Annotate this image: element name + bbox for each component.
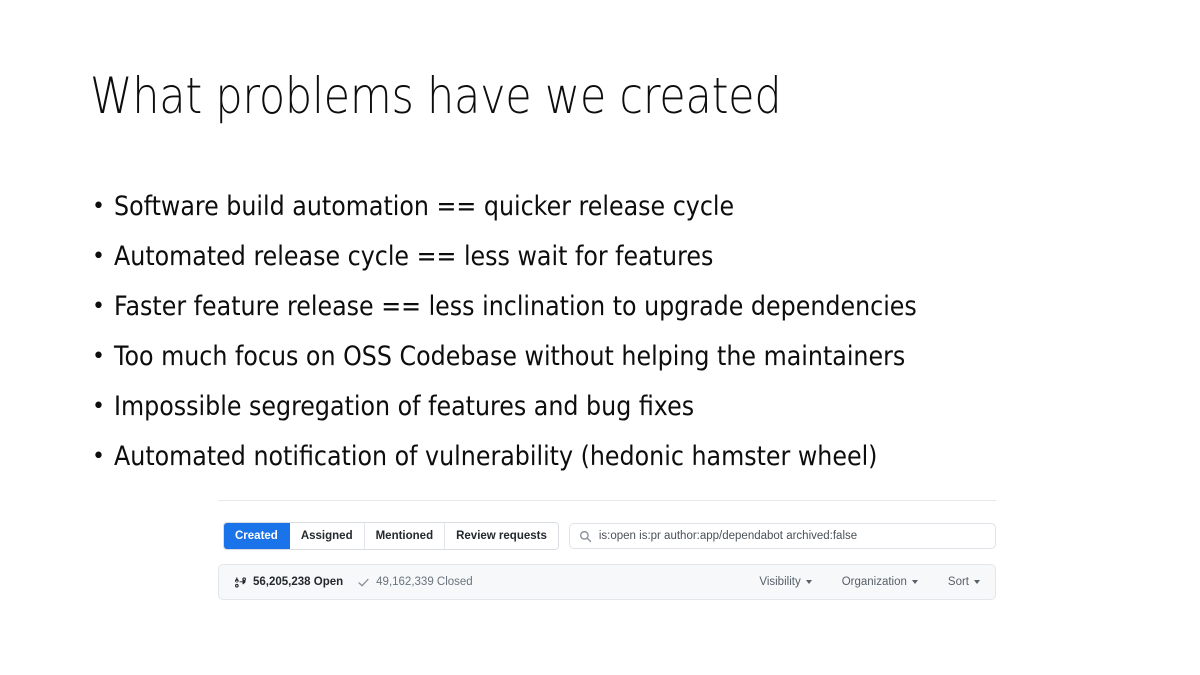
organization-dropdown[interactable]: Organization bbox=[842, 576, 918, 588]
open-count-label: 56,205,238 Open bbox=[253, 576, 343, 588]
list-item: • Automated release cycle == less wait f… bbox=[90, 232, 1150, 282]
chevron-down-icon bbox=[806, 580, 812, 584]
list-item: • Software build automation == quicker r… bbox=[90, 182, 1150, 232]
issue-counts: 56,205,238 Open 49,162,339 Closed bbox=[234, 576, 473, 589]
bullet-marker: • bbox=[92, 282, 104, 332]
list-item-label: Impossible segregation of features and b… bbox=[114, 382, 694, 432]
tab-created[interactable]: Created bbox=[224, 523, 290, 549]
github-status-bar: 56,205,238 Open 49,162,339 Closed Visibi… bbox=[218, 564, 996, 600]
list-item-label: Faster feature release == less inclinati… bbox=[114, 282, 917, 332]
organization-dropdown-label: Organization bbox=[842, 576, 907, 588]
bullet-marker: • bbox=[92, 232, 104, 282]
search-input[interactable]: is:open is:pr author:app/dependabot arch… bbox=[569, 523, 996, 549]
bullet-marker: • bbox=[92, 332, 104, 382]
tab-review-requests-label: Review requests bbox=[456, 530, 547, 542]
list-item-label: Too much focus on OSS Codebase without h… bbox=[114, 332, 905, 382]
chevron-down-icon bbox=[912, 580, 918, 584]
page-title: What problems have we created bbox=[90, 66, 967, 126]
open-count[interactable]: 56,205,238 Open bbox=[234, 576, 343, 589]
check-icon bbox=[357, 576, 370, 589]
list-item-label: Automated release cycle == less wait for… bbox=[114, 232, 713, 282]
list-item-label: Software build automation == quicker rel… bbox=[114, 182, 734, 232]
bullet-marker: • bbox=[92, 182, 104, 232]
tab-review-requests[interactable]: Review requests bbox=[445, 523, 558, 549]
closed-count-label: 49,162,339 Closed bbox=[376, 576, 473, 588]
sort-dropdown[interactable]: Sort bbox=[948, 576, 980, 588]
tab-mentioned-label: Mentioned bbox=[376, 530, 434, 542]
visibility-dropdown[interactable]: Visibility bbox=[759, 576, 811, 588]
github-tab-group: Created Assigned Mentioned Review reques… bbox=[223, 522, 559, 550]
tab-assigned[interactable]: Assigned bbox=[290, 523, 365, 549]
list-item: • Impossible segregation of features and… bbox=[90, 382, 1150, 432]
list-item: • Faster feature release == less inclina… bbox=[90, 282, 1150, 332]
github-search-widget: Created Assigned Mentioned Review reques… bbox=[218, 500, 996, 600]
pull-request-icon bbox=[234, 576, 247, 589]
tab-created-label: Created bbox=[235, 530, 278, 542]
bullet-list: • Software build automation == quicker r… bbox=[90, 182, 1150, 482]
tab-assigned-label: Assigned bbox=[301, 530, 353, 542]
bullet-marker: • bbox=[92, 382, 104, 432]
github-controls-row: Created Assigned Mentioned Review reques… bbox=[218, 522, 996, 550]
divider bbox=[218, 500, 996, 501]
list-item: • Too much focus on OSS Codebase without… bbox=[90, 332, 1150, 382]
list-item-label: Automated notification of vulnerability … bbox=[114, 432, 877, 482]
slide-canvas: What problems have we created • Software… bbox=[0, 0, 1200, 675]
bullet-marker: • bbox=[92, 432, 104, 482]
sort-dropdown-label: Sort bbox=[948, 576, 969, 588]
tab-mentioned[interactable]: Mentioned bbox=[365, 523, 446, 549]
filter-controls: Visibility Organization Sort bbox=[759, 576, 980, 588]
chevron-down-icon bbox=[974, 580, 980, 584]
closed-count[interactable]: 49,162,339 Closed bbox=[357, 576, 473, 589]
visibility-dropdown-label: Visibility bbox=[759, 576, 800, 588]
search-input-value: is:open is:pr author:app/dependabot arch… bbox=[599, 530, 857, 542]
search-icon bbox=[579, 530, 592, 543]
list-item: • Automated notification of vulnerabilit… bbox=[90, 432, 1150, 482]
